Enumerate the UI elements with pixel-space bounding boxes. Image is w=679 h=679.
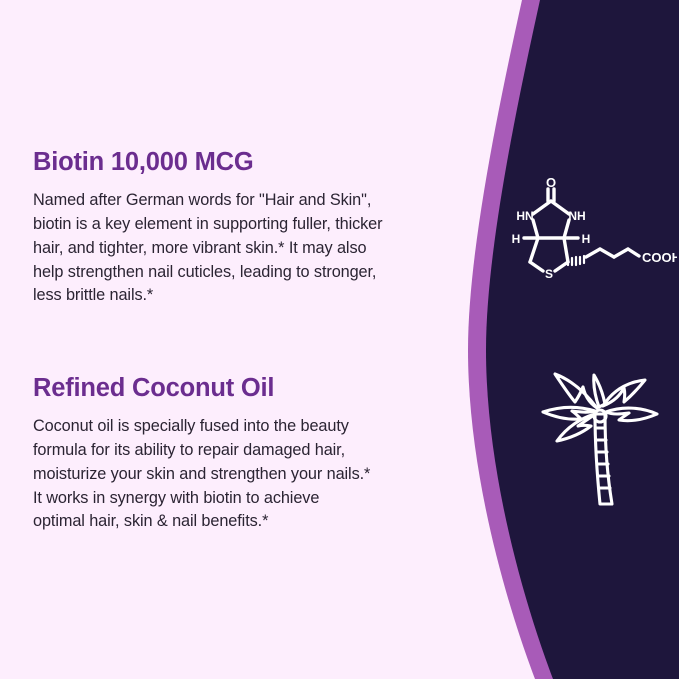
- label-carboxyl: COOH: [642, 250, 677, 265]
- hashed-wedge-bond: [568, 256, 584, 265]
- label-nitrogen-left: HN: [516, 209, 533, 223]
- palm-tree-svg: [533, 362, 663, 510]
- ingredient-panel: Biotin 10,000 MCG Named after German wor…: [0, 0, 679, 679]
- section-biotin: Biotin 10,000 MCG Named after German wor…: [33, 148, 451, 308]
- label-nitrogen-right: NH: [568, 209, 585, 223]
- label-sulfur: S: [545, 267, 553, 281]
- biotin-molecule-icon: O HN NH H H S COOH: [505, 172, 677, 287]
- text-column: Biotin 10,000 MCG Named after German wor…: [33, 0, 453, 679]
- label-oxygen: O: [546, 175, 556, 190]
- section-coconut-heading: Refined Coconut Oil: [33, 374, 451, 403]
- section-biotin-body: Named after German words for "Hair and S…: [33, 189, 451, 308]
- molecule-bonds: [524, 189, 639, 271]
- palm-tree-outline: [543, 374, 657, 504]
- label-hydrogen-right: H: [582, 232, 591, 246]
- section-biotin-heading: Biotin 10,000 MCG: [33, 148, 451, 177]
- label-hydrogen-left: H: [512, 232, 521, 246]
- section-coconut-body: Coconut oil is specially fused into the …: [33, 415, 451, 534]
- section-coconut: Refined Coconut Oil Coconut oil is speci…: [33, 374, 451, 534]
- biotin-molecule-svg: O HN NH H H S COOH: [505, 172, 677, 287]
- palm-tree-icon: [533, 362, 663, 510]
